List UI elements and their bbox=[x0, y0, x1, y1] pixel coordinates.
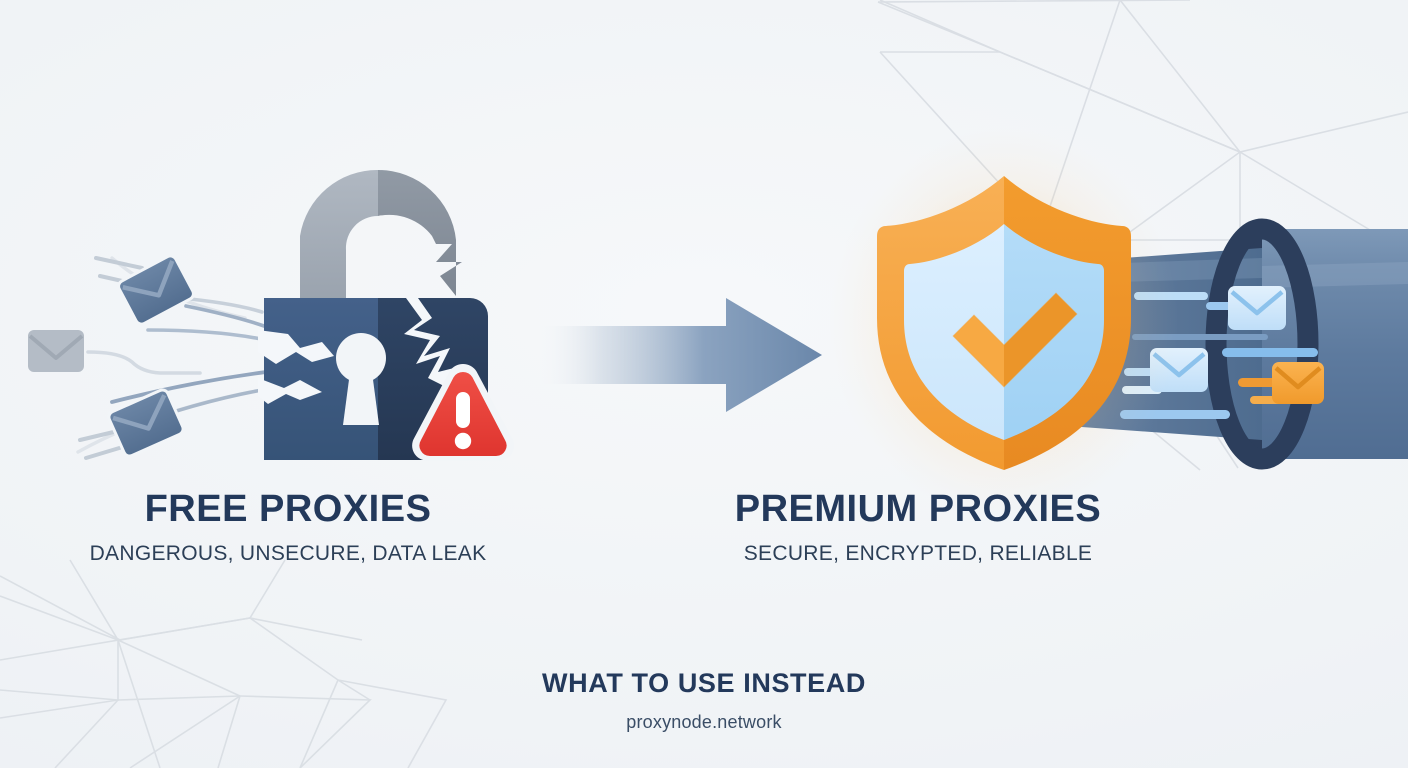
free-proxies-title: FREE PROXIES bbox=[8, 488, 568, 532]
tunnel-envelope-icon bbox=[1228, 286, 1286, 330]
idle-envelope-icon bbox=[28, 330, 84, 372]
free-proxies-caption: FREE PROXIES DANGEROUS, UNSECURE, DATA L… bbox=[8, 488, 568, 566]
illustration-layer bbox=[0, 0, 1408, 768]
premium-proxies-title: PREMIUM PROXIES bbox=[638, 488, 1198, 532]
free-proxies-subtitle: DANGEROUS, UNSECURE, DATA LEAK bbox=[8, 542, 568, 566]
broken-padlock-icon bbox=[258, 170, 514, 461]
footer-block: WHAT TO USE INSTEAD proxynode.network bbox=[0, 668, 1408, 733]
transition-arrow-icon bbox=[540, 298, 822, 412]
tunnel-envelope-accent-icon bbox=[1272, 362, 1324, 404]
premium-proxies-caption: PREMIUM PROXIES SECURE, ENCRYPTED, RELIA… bbox=[638, 488, 1198, 566]
footer-title: WHAT TO USE INSTEAD bbox=[0, 668, 1408, 699]
footer-url: proxynode.network bbox=[0, 712, 1408, 733]
infographic-canvas: FREE PROXIES DANGEROUS, UNSECURE, DATA L… bbox=[0, 0, 1408, 768]
premium-proxies-subtitle: SECURE, ENCRYPTED, RELIABLE bbox=[638, 542, 1198, 566]
